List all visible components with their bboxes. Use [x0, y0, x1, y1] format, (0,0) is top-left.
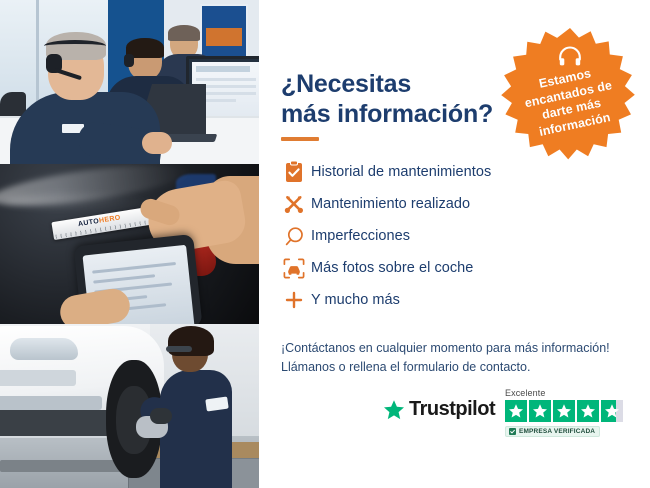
contact-line-2: Llámanos o rellena el formulario de cont…: [281, 358, 631, 377]
feature-list: Historial de mantenimientos M: [277, 156, 617, 316]
feature-label: Más fotos sobre el coche: [311, 260, 473, 276]
trustpilot-rating[interactable]: Trustpilot Excelente: [383, 392, 633, 450]
headset-icon: [557, 46, 583, 68]
agent-1-hand: [142, 132, 172, 154]
poster-graphic: [206, 28, 242, 46]
agent-2-headset: [124, 54, 134, 67]
mechanic-body: [160, 370, 232, 488]
car-scan-icon: [277, 253, 311, 283]
wall-poster: [200, 4, 248, 64]
star-rating: [505, 400, 633, 422]
feature-item-much-more: Y mucho más: [277, 284, 617, 316]
star-2: [529, 400, 551, 422]
star-5-partial: [601, 400, 623, 422]
tablet-line: [92, 262, 176, 274]
support-badge: Estamos encantados de darte más informac…: [499, 26, 641, 168]
verified-business-badge: EMPRESA VERIFICADA: [505, 426, 600, 437]
screen-row: [196, 78, 256, 81]
star-3: [553, 400, 575, 422]
feature-label: Mantenimiento realizado: [311, 196, 470, 212]
feature-label: Y mucho más: [311, 292, 400, 308]
car-lift-arm: [0, 460, 122, 472]
contact-text: ¡Contáctanos en cualquier momento para m…: [281, 339, 631, 378]
title-divider: [281, 137, 319, 141]
page-title-line-1: ¿Necesitas: [281, 70, 411, 98]
clipboard-check-icon: [277, 157, 311, 187]
contact-line-1: ¡Contáctanos en cualquier momento para m…: [281, 339, 631, 358]
trustpilot-score: Excelente: [505, 388, 633, 440]
star-4: [577, 400, 599, 422]
feature-item-maintenance-done: Mantenimiento realizado: [277, 188, 617, 220]
tablet-line: [93, 274, 155, 283]
car-grille: [0, 370, 76, 386]
car-headlight: [10, 338, 78, 360]
agent-1-headset-band: [44, 40, 106, 52]
content-panel: ¿Necesitas más información? Estamos enca…: [259, 0, 650, 488]
trustpilot-wordmark: Trustpilot: [409, 398, 495, 421]
feature-item-maintenance-history: Historial de mantenimientos: [277, 156, 617, 188]
tools-cross-icon: [277, 189, 311, 219]
rating-label: Excelente: [505, 388, 633, 398]
feature-label: Imperfecciones: [311, 228, 410, 244]
brand-auto: AUTO: [78, 218, 100, 228]
feature-label: Historial de mantenimientos: [311, 164, 491, 180]
star-1: [505, 400, 527, 422]
verified-check-icon: [509, 428, 516, 435]
trustpilot-logo[interactable]: Trustpilot: [383, 398, 495, 421]
car-inspection-ruler-photo: AUTOHERO: [0, 164, 259, 324]
body-highlight-secondary: [4, 194, 154, 208]
page-title-line-2: más información?: [281, 99, 531, 129]
trustpilot-star-icon: [383, 399, 405, 421]
magnifier-icon: [277, 221, 311, 251]
photo-column: AUTOHERO: [0, 0, 259, 488]
mechanic-wheel-inspection-photo: [0, 324, 259, 488]
verified-label: EMPRESA VERIFICADA: [519, 428, 595, 435]
page-title: ¿Necesitas más información?: [281, 69, 531, 129]
car-lower-bumper: [0, 396, 102, 410]
feature-item-imperfections: Imperfecciones: [277, 220, 617, 252]
plus-icon: [277, 285, 311, 315]
call-center-agents-photo: [0, 0, 259, 164]
brand-hero: HERO: [99, 214, 122, 224]
feature-item-more-photos: Más fotos sobre el coche: [277, 252, 617, 284]
screen-toolbar: [196, 66, 250, 72]
agent-3-hair: [168, 25, 200, 41]
mechanic-glove-dark: [150, 408, 172, 424]
promo-card: AUTOHERO: [0, 0, 650, 488]
safety-glasses: [166, 346, 192, 352]
